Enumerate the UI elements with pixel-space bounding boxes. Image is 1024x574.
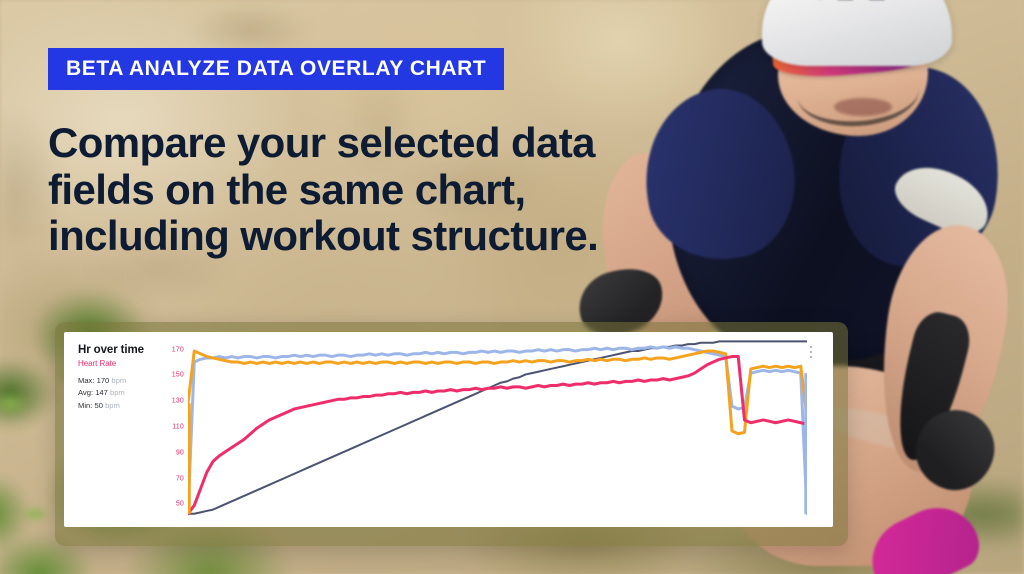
stat-min-value: 50 bbox=[94, 401, 102, 410]
series-power bbox=[188, 351, 807, 434]
y-tick-130: 130 bbox=[172, 398, 184, 405]
series-heart-rate bbox=[188, 357, 807, 514]
y-tick-70: 70 bbox=[176, 475, 184, 482]
series-cadence bbox=[188, 347, 807, 514]
y-axis-ticks: 170150130110907050 bbox=[162, 342, 184, 512]
stat-avg-unit: bpm bbox=[110, 388, 125, 397]
stat-max-value: 170 bbox=[97, 376, 110, 385]
series-workout-structure bbox=[188, 341, 807, 513]
chart-card: Hr over time Heart Rate Max: 170 bpm Avg… bbox=[64, 332, 833, 527]
stat-max-label: Max: bbox=[78, 376, 94, 385]
chart-plot-area[interactable] bbox=[188, 340, 807, 522]
y-tick-50: 50 bbox=[176, 501, 184, 508]
bike-helmet bbox=[762, 0, 952, 66]
kebab-dot-3 bbox=[810, 356, 812, 358]
chart-svg bbox=[188, 340, 807, 522]
page-title: Compare your selected data fields on the… bbox=[48, 120, 648, 260]
stat-avg-label: Avg: bbox=[78, 388, 93, 397]
stat-min-label: Min: bbox=[78, 401, 92, 410]
headline-line-1: Compare your selected data bbox=[48, 120, 648, 167]
stat-max-unit: bpm bbox=[111, 376, 126, 385]
headline-line-2: fields on the same chart, bbox=[48, 167, 648, 214]
kebab-dot-2 bbox=[810, 351, 812, 353]
headline-line-3: including workout structure. bbox=[48, 213, 648, 260]
y-tick-90: 90 bbox=[176, 449, 184, 456]
kebab-dot-1 bbox=[810, 346, 812, 348]
beta-feature-badge: BETA ANALYZE DATA OVERLAY CHART bbox=[48, 48, 504, 90]
y-tick-150: 150 bbox=[172, 372, 184, 379]
y-tick-110: 110 bbox=[172, 424, 184, 431]
stat-avg-value: 147 bbox=[95, 388, 108, 397]
y-tick-170: 170 bbox=[172, 346, 184, 353]
stat-min-unit: bpm bbox=[105, 401, 120, 410]
chart-card-frame: Hr over time Heart Rate Max: 170 bpm Avg… bbox=[55, 322, 848, 546]
